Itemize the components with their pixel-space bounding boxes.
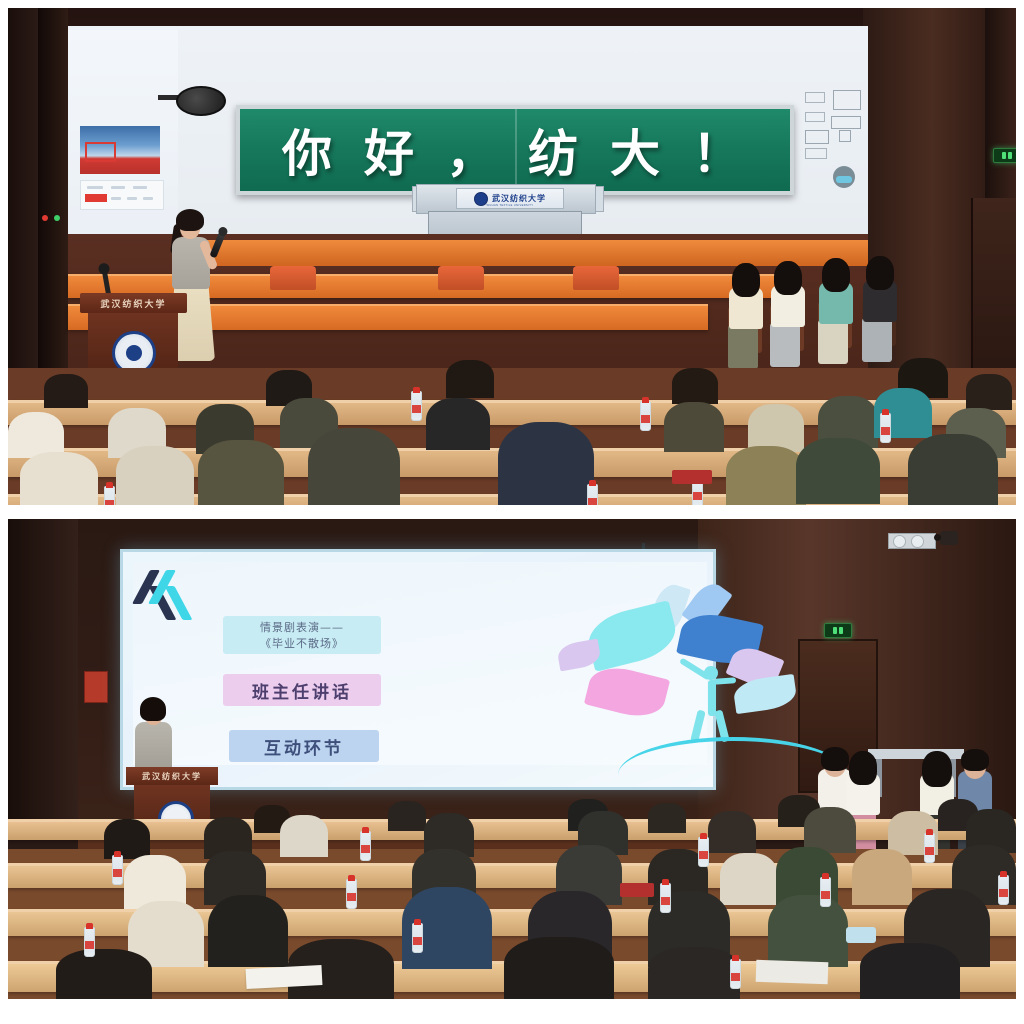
lectern-label: 武汉纺织大学	[126, 767, 218, 785]
audience-person	[504, 937, 614, 999]
red-notebook	[672, 470, 712, 484]
left-structural-post	[38, 8, 68, 380]
audience-person	[20, 452, 98, 505]
banner-char-3: ，	[446, 114, 502, 186]
slide-canvas: 情景剧表演—— 《毕业不散场》 班主任讲话 互动环节	[133, 562, 707, 765]
banner-char-2: 好	[364, 114, 420, 186]
open-notebook	[756, 960, 829, 984]
exit-sign-icon	[993, 148, 1016, 163]
status-led-panel	[42, 213, 64, 223]
red-notebook	[620, 883, 654, 897]
ground-arc	[618, 737, 848, 775]
audience-person	[966, 374, 1012, 410]
agenda-1-line1: 情景剧表演——	[260, 619, 344, 635]
water-bottle	[84, 927, 95, 957]
tree-graphic-icon	[558, 582, 828, 787]
water-bottle	[104, 486, 115, 505]
water-bottle	[412, 923, 423, 953]
water-bottle	[360, 831, 371, 861]
stage-chair-2	[438, 266, 484, 290]
audience-person	[498, 422, 594, 505]
audience-person	[446, 360, 494, 398]
blackboard-banner: 你 好 ， 纺 大 ！	[236, 105, 794, 195]
podium-nameplate: 武汉纺织大学 WUHAN TEXTILE UNIVERSITY	[456, 188, 564, 209]
photo-top-opening-ceremony: 你 好 ， 纺 大 ！ 武汉纺织大学 WUHAN TEXTILE UNIVERS…	[8, 8, 1016, 505]
audience-person	[426, 398, 490, 450]
projected-toolbar	[80, 180, 164, 210]
audience-person	[796, 438, 880, 504]
water-bottle	[880, 413, 891, 443]
audience-person	[44, 374, 88, 408]
banner-char-1: 你	[282, 114, 338, 186]
audience-person	[852, 849, 912, 905]
audience-person	[308, 428, 400, 505]
presenter-hair	[176, 209, 204, 231]
podium-name-en: WUHAN TEXTILE UNIVERSITY	[457, 204, 563, 207]
projected-photo-thumb	[80, 126, 160, 174]
audience-person	[116, 446, 194, 505]
photo-bottom-class-meeting: 情景剧表演—— 《毕业不散场》 班主任讲话 互动环节	[8, 519, 1016, 999]
audience-person	[56, 949, 152, 999]
stage-chair-1	[270, 266, 316, 290]
audience-person	[664, 402, 724, 452]
water-bottle	[112, 855, 123, 885]
water-bottle	[346, 879, 357, 909]
slide-agenda-item-2: 班主任讲话	[223, 674, 381, 706]
left-wood-wall	[8, 519, 78, 819]
hall-door-right	[971, 198, 1016, 380]
audience-person	[280, 815, 328, 857]
agenda-1-line2: 《毕业不散场》	[260, 635, 344, 651]
audience-person	[388, 801, 426, 831]
fire-alarm-box	[84, 671, 108, 703]
water-bottle	[730, 959, 741, 989]
slide-agenda-item-3: 互动环节	[229, 730, 379, 762]
water-bottle	[820, 877, 831, 907]
banner-char-4: 纺	[528, 114, 584, 186]
security-camera-icon	[940, 531, 958, 545]
lectern-top: 武汉纺织大学	[126, 767, 218, 785]
water-bottle	[411, 391, 422, 421]
face-mask	[846, 927, 876, 943]
water-bottle	[924, 833, 935, 863]
projection-screen: 情景剧表演—— 《毕业不散场》 班主任讲话 互动环节	[120, 549, 716, 790]
lectern-label: 武汉纺织大学	[80, 293, 187, 313]
audience-desk-row-1	[8, 819, 1016, 840]
audience-person	[726, 446, 806, 505]
banner-char-6: ！	[692, 114, 748, 186]
presenter-body	[135, 722, 172, 770]
exit-sign-icon	[824, 623, 852, 638]
slide-agenda-item-1: 情景剧表演—— 《毕业不散场》	[223, 616, 381, 654]
emergency-light-icon	[888, 533, 936, 549]
audience-person	[104, 819, 150, 859]
audience-person	[908, 434, 998, 505]
audience-person	[198, 440, 284, 505]
wall-notice-group	[803, 86, 865, 198]
audience-person	[648, 803, 686, 833]
audience-person	[748, 404, 804, 452]
podium-name-cn: 武汉纺织大学	[492, 193, 546, 204]
lectern-top: 武汉纺织大学	[80, 293, 187, 313]
banner-text: 你 好 ， 纺 大 ！	[240, 109, 790, 191]
wall-fan-icon	[158, 86, 224, 120]
audience-person	[208, 895, 288, 967]
audience-person	[708, 811, 756, 853]
water-bottle	[587, 484, 598, 505]
agenda-3-line1: 互动环节	[264, 734, 344, 759]
water-bottle	[698, 837, 709, 867]
open-notebook	[246, 965, 323, 989]
presenter-hair	[140, 697, 166, 721]
stage-chair-3	[573, 266, 619, 290]
chevron-accent-icon	[141, 570, 197, 612]
screenshot-root: 你 好 ， 纺 大 ！ 武汉纺织大学 WUHAN TEXTILE UNIVERS…	[0, 0, 1024, 1024]
water-bottle	[998, 875, 1009, 905]
water-bottle	[640, 401, 651, 431]
audience-person	[648, 947, 740, 999]
banner-char-5: 大	[610, 114, 666, 186]
audience-person	[768, 895, 848, 967]
stage-back-desk	[178, 240, 868, 266]
water-bottle	[660, 883, 671, 913]
audience-person	[720, 853, 778, 905]
agenda-2-line1: 班主任讲话	[252, 678, 352, 703]
audience-person	[672, 368, 718, 404]
audience-person	[860, 943, 960, 999]
